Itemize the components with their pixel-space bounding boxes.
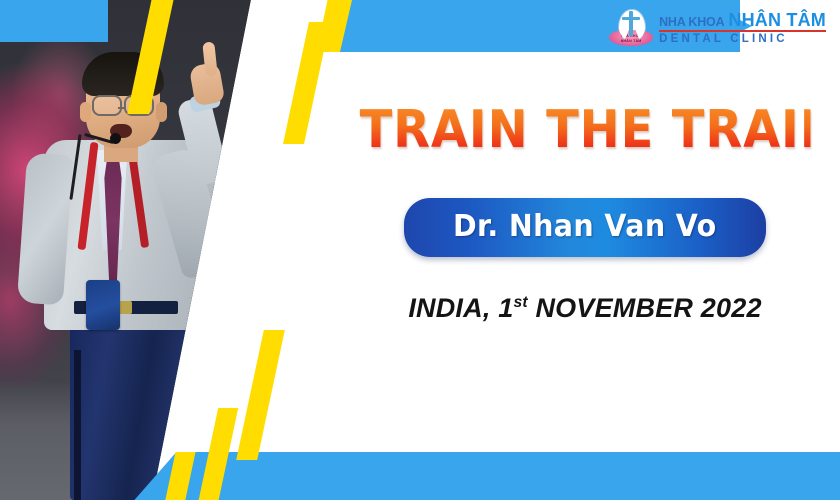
- event-date-ordinal: st: [513, 294, 527, 311]
- speaker-microphone-tip: [110, 133, 121, 144]
- speaker-photo-panel: [0, 0, 330, 500]
- speaker-name-pill: Dr. Nhan Van Vo: [404, 198, 766, 257]
- cross-horizontal-bar: [622, 17, 640, 20]
- speaker-glasses-lens-left: [92, 95, 122, 116]
- event-date-suffix: NOVEMBER 2022: [528, 293, 762, 323]
- speaker-pointing-finger: [202, 41, 217, 76]
- logo-wordmark: NHA KHOA NHÂN TÂM DENTAL CLINIC: [659, 11, 826, 46]
- logo-red-underline: [659, 30, 826, 32]
- yellow-stripe-lower-long: [236, 330, 285, 460]
- speaker-leg-separation: [74, 350, 81, 500]
- logo-subtitle: DENTAL CLINIC: [659, 34, 826, 46]
- speaker-ear-left: [80, 102, 91, 122]
- logo-oval-line2: NHÂN TÂM: [609, 39, 653, 44]
- speaker-ear-right: [156, 102, 167, 122]
- logo-brand-line: NHA KHOA NHÂN TÂM: [659, 11, 826, 29]
- content-column: TRAIN THE TRAINER Dr. Nhan Van Vo INDIA,…: [340, 100, 830, 324]
- clinic-logo[interactable]: NHA KHOA NHÂN TÂM NHA KHOA NHÂN TÂM DENT…: [609, 8, 826, 48]
- top-left-blue-block: [0, 0, 108, 42]
- tooth-with-cross-icon: NHA KHOA NHÂN TÂM: [609, 8, 653, 48]
- speaker-photo: [0, 0, 330, 500]
- promo-banner: NHA KHOA NHÂN TÂM NHA KHOA NHÂN TÂM DENT…: [0, 0, 840, 500]
- speaker-name-text: Dr. Nhan Van Vo: [453, 209, 717, 244]
- speaker-name-badge: [86, 280, 120, 330]
- event-date-line: INDIA, 1st NOVEMBER 2022: [340, 293, 830, 324]
- event-date-prefix: INDIA, 1: [408, 293, 513, 323]
- logo-brand-name: NHÂN TÂM: [728, 11, 826, 29]
- logo-brand-prefix: NHA KHOA: [659, 16, 724, 29]
- banner-title: TRAIN THE TRAINER: [360, 100, 811, 160]
- cross-vertical-bar: [629, 11, 632, 36]
- yellow-stripe-upper-right: [283, 22, 330, 144]
- speaker-glasses-bridge: [118, 107, 126, 109]
